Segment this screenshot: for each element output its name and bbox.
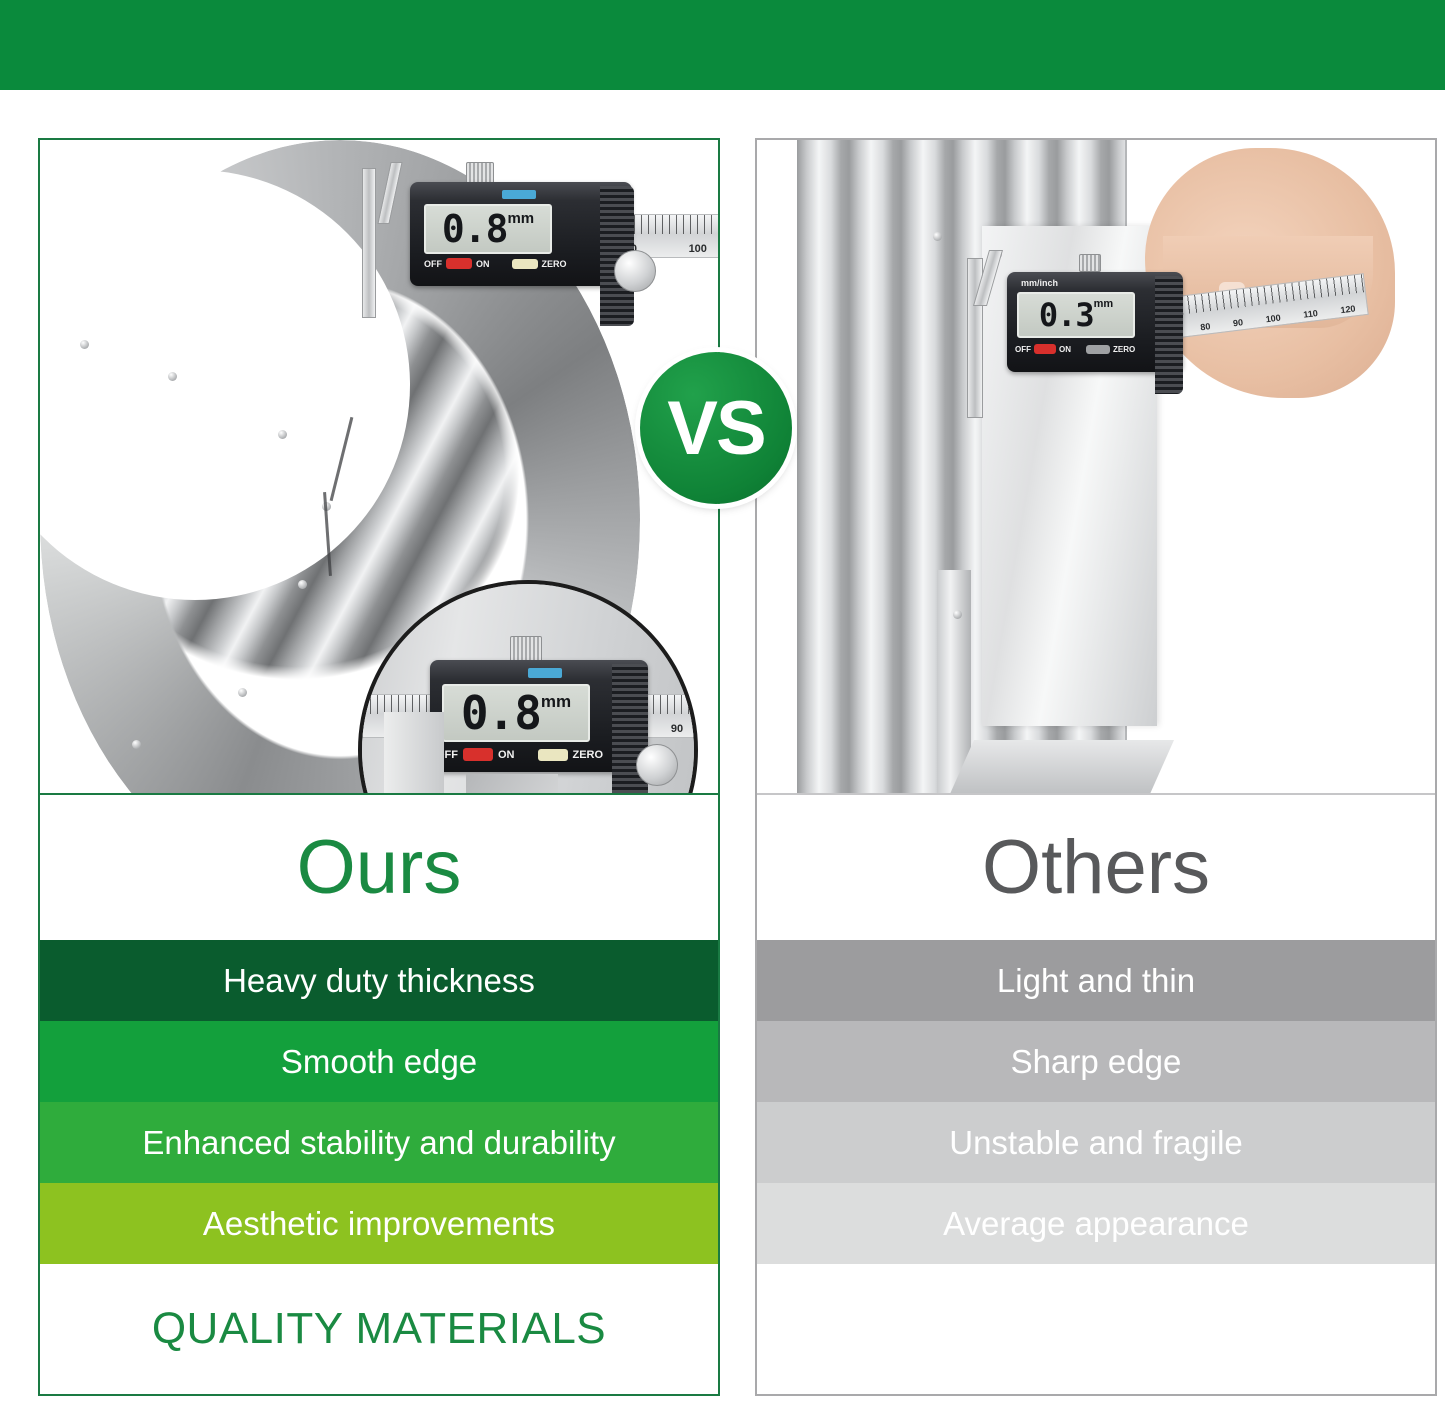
rivet-dot	[278, 430, 287, 439]
caliper-off-label: OFF	[1015, 345, 1031, 354]
vs-badge: VS	[640, 352, 792, 504]
feature-bar: Sharp edge	[757, 1021, 1435, 1102]
caliper-mode-label: mm/inch	[1021, 278, 1058, 288]
caliper-blue-button	[502, 190, 536, 199]
feature-bar: Aesthetic improvements	[40, 1183, 718, 1264]
comparison-panel-others: 70 80 90 100 110 120 mm/inch 0.3 mm	[755, 138, 1437, 1396]
caliper-unit: mm	[507, 210, 534, 227]
caliper-zero-button[interactable]	[538, 749, 568, 761]
caliper-unit: mm	[1094, 298, 1114, 310]
ruler-tick-label: 90	[671, 723, 683, 735]
caliper-lock-knob	[510, 636, 542, 662]
ruler-tick-label: 120	[1340, 303, 1356, 315]
caliper-ruler: 70 80 90 100 110 120	[1151, 273, 1369, 341]
caliper-zero-label: ZERO	[573, 749, 604, 761]
caliper-jaw-tip	[377, 162, 402, 224]
caliper-display: 0.8 mm	[442, 684, 590, 742]
feature-bars-ours: Heavy duty thickness Smooth edge Enhance…	[40, 940, 718, 1264]
panel-footer-ours: QUALITY MATERIALS	[40, 1264, 718, 1394]
feature-label: Sharp edge	[1011, 1043, 1182, 1081]
caliper-grip	[1155, 276, 1183, 394]
feature-label: Unstable and fragile	[949, 1124, 1243, 1162]
feature-bar: Smooth edge	[40, 1021, 718, 1102]
caliper-thumb-wheel[interactable]	[636, 744, 678, 786]
caliper-display: 0.3 mm	[1017, 292, 1135, 338]
caliper-power-switch[interactable]	[1034, 344, 1056, 354]
caliper-display: 0.8 mm	[424, 204, 552, 254]
caliper-on-label: ON	[476, 259, 490, 269]
rivet-dot	[298, 580, 307, 589]
ruler-tick-label: 90	[1232, 317, 1243, 328]
panel-heading-ours: Ours	[40, 795, 718, 940]
feature-label: Heavy duty thickness	[223, 962, 535, 1000]
caliper-thumb-wheel[interactable]	[614, 250, 656, 292]
caliper-zero-label: ZERO	[542, 259, 567, 269]
feature-label: Average appearance	[943, 1205, 1249, 1243]
feature-label: Light and thin	[997, 962, 1195, 1000]
caliper-reading: 0.3	[1039, 296, 1094, 334]
caliper-jaw	[362, 168, 376, 318]
caliper-power-switch[interactable]	[463, 748, 493, 761]
caliper-jaw-zoom	[384, 712, 444, 795]
caliper-on-label: ON	[498, 749, 515, 761]
ruler-tick-label: 100	[689, 243, 707, 255]
caliper-zero-label: ZERO	[1113, 345, 1135, 354]
digital-caliper-others: 70 80 90 100 110 120 mm/inch 0.3 mm	[967, 248, 1387, 428]
caliper-reading: 0.8	[461, 686, 541, 740]
feature-bar: Enhanced stability and durability	[40, 1102, 718, 1183]
caliper-button-row: OFF ON ZERO	[424, 258, 614, 269]
rivet-dot	[168, 372, 177, 381]
panel-bottom-fold	[950, 740, 1174, 794]
caliper-lock-knob	[1079, 254, 1101, 272]
caliper-on-label: ON	[1059, 345, 1071, 354]
product-photo-others: 70 80 90 100 110 120 mm/inch 0.3 mm	[757, 140, 1435, 795]
feature-bar: Average appearance	[757, 1183, 1435, 1264]
vs-label: VS	[667, 385, 764, 472]
feature-bar: Light and thin	[757, 940, 1435, 1021]
feature-bar: Unstable and fragile	[757, 1102, 1435, 1183]
rivet-dot	[238, 688, 247, 697]
top-green-banner	[0, 0, 1445, 90]
ruler-tick-label: 80	[1200, 321, 1211, 332]
magnifier-ours: 90 0.8 mm OFF ON	[358, 580, 698, 795]
caliper-button-row: OFF ON ZERO	[1015, 344, 1185, 354]
caliper-unit: mm	[541, 692, 571, 712]
comparison-panel-ours: 90 100 110 0.8 mm OFF ON	[38, 138, 720, 1396]
feature-label: Aesthetic improvements	[203, 1205, 555, 1243]
caliper-zero-button[interactable]	[512, 259, 538, 269]
feature-bar: Heavy duty thickness	[40, 940, 718, 1021]
feature-label: Smooth edge	[281, 1043, 477, 1081]
caliper-off-label: OFF	[424, 259, 442, 269]
product-photo-ours: 90 100 110 0.8 mm OFF ON	[40, 140, 718, 795]
caliper-lock-knob	[466, 162, 494, 184]
caliper-zero-button[interactable]	[1086, 345, 1110, 354]
ruler-tick-label: 100	[1265, 313, 1281, 325]
feature-label: Enhanced stability and durability	[142, 1124, 615, 1162]
feature-bars-others: Light and thin Sharp edge Unstable and f…	[757, 940, 1435, 1264]
rivet-dot	[80, 340, 89, 349]
caliper-button-row: OFF ON ZERO	[436, 748, 636, 761]
measured-part-zoom	[466, 774, 558, 795]
caliper-blue-button	[528, 668, 562, 678]
caliper-power-switch[interactable]	[446, 258, 472, 269]
panel-footer-others	[757, 1264, 1435, 1394]
rivet-dot	[953, 610, 962, 619]
panel-heading-others: Others	[757, 795, 1435, 940]
digital-caliper-ours: 90 100 110 0.8 mm OFF ON	[362, 162, 692, 352]
rivet-dot	[132, 740, 141, 749]
ruler-tick-label: 110	[1303, 308, 1319, 320]
rivet-dot	[933, 232, 942, 241]
caliper-reading: 0.8	[442, 207, 508, 251]
